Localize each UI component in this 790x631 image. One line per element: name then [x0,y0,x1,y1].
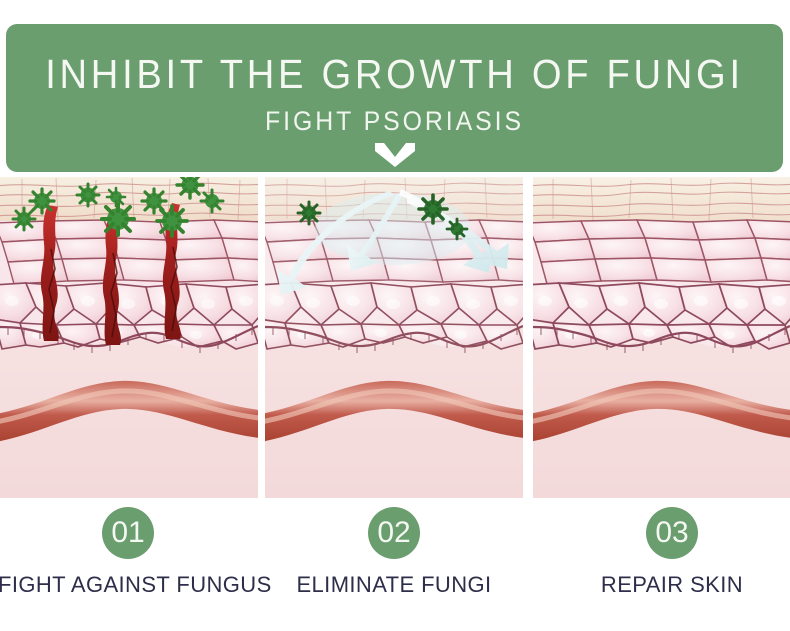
step-badge-2: 02 [368,507,420,559]
step-item-2: 02 ELIMINATE FUNGI [264,498,524,598]
steps-row: 01 FIGHT AGAINST FUNGUS 02 ELIMINATE FUN… [0,498,790,631]
skin-panels-row [0,177,790,498]
header-banner: INHIBIT THE GROWTH OF FUNGI FIGHT PSORIA… [6,24,783,172]
skin-panel-treating [265,177,523,498]
infographic-root: INHIBIT THE GROWTH OF FUNGI FIGHT PSORIA… [0,0,790,631]
step-badge-1: 01 [102,507,154,559]
step-label-2: ELIMINATE FUNGI [264,572,524,598]
banner-title: INHIBIT THE GROWTH OF FUNGI [33,54,756,95]
banner-subtitle: FIGHT PSORIASIS [37,108,752,135]
step-badge-3: 03 [646,507,698,559]
skin-panel-infected [0,177,258,498]
skin-panel-healthy [533,177,790,498]
step-item-1: 01 FIGHT AGAINST FUNGUS [0,498,258,598]
step-label-3: REPAIR SKIN [542,572,790,598]
chevron-down-icon [373,142,417,168]
step-label-1: FIGHT AGAINST FUNGUS [0,572,258,598]
step-item-3: 03 REPAIR SKIN [542,498,790,598]
